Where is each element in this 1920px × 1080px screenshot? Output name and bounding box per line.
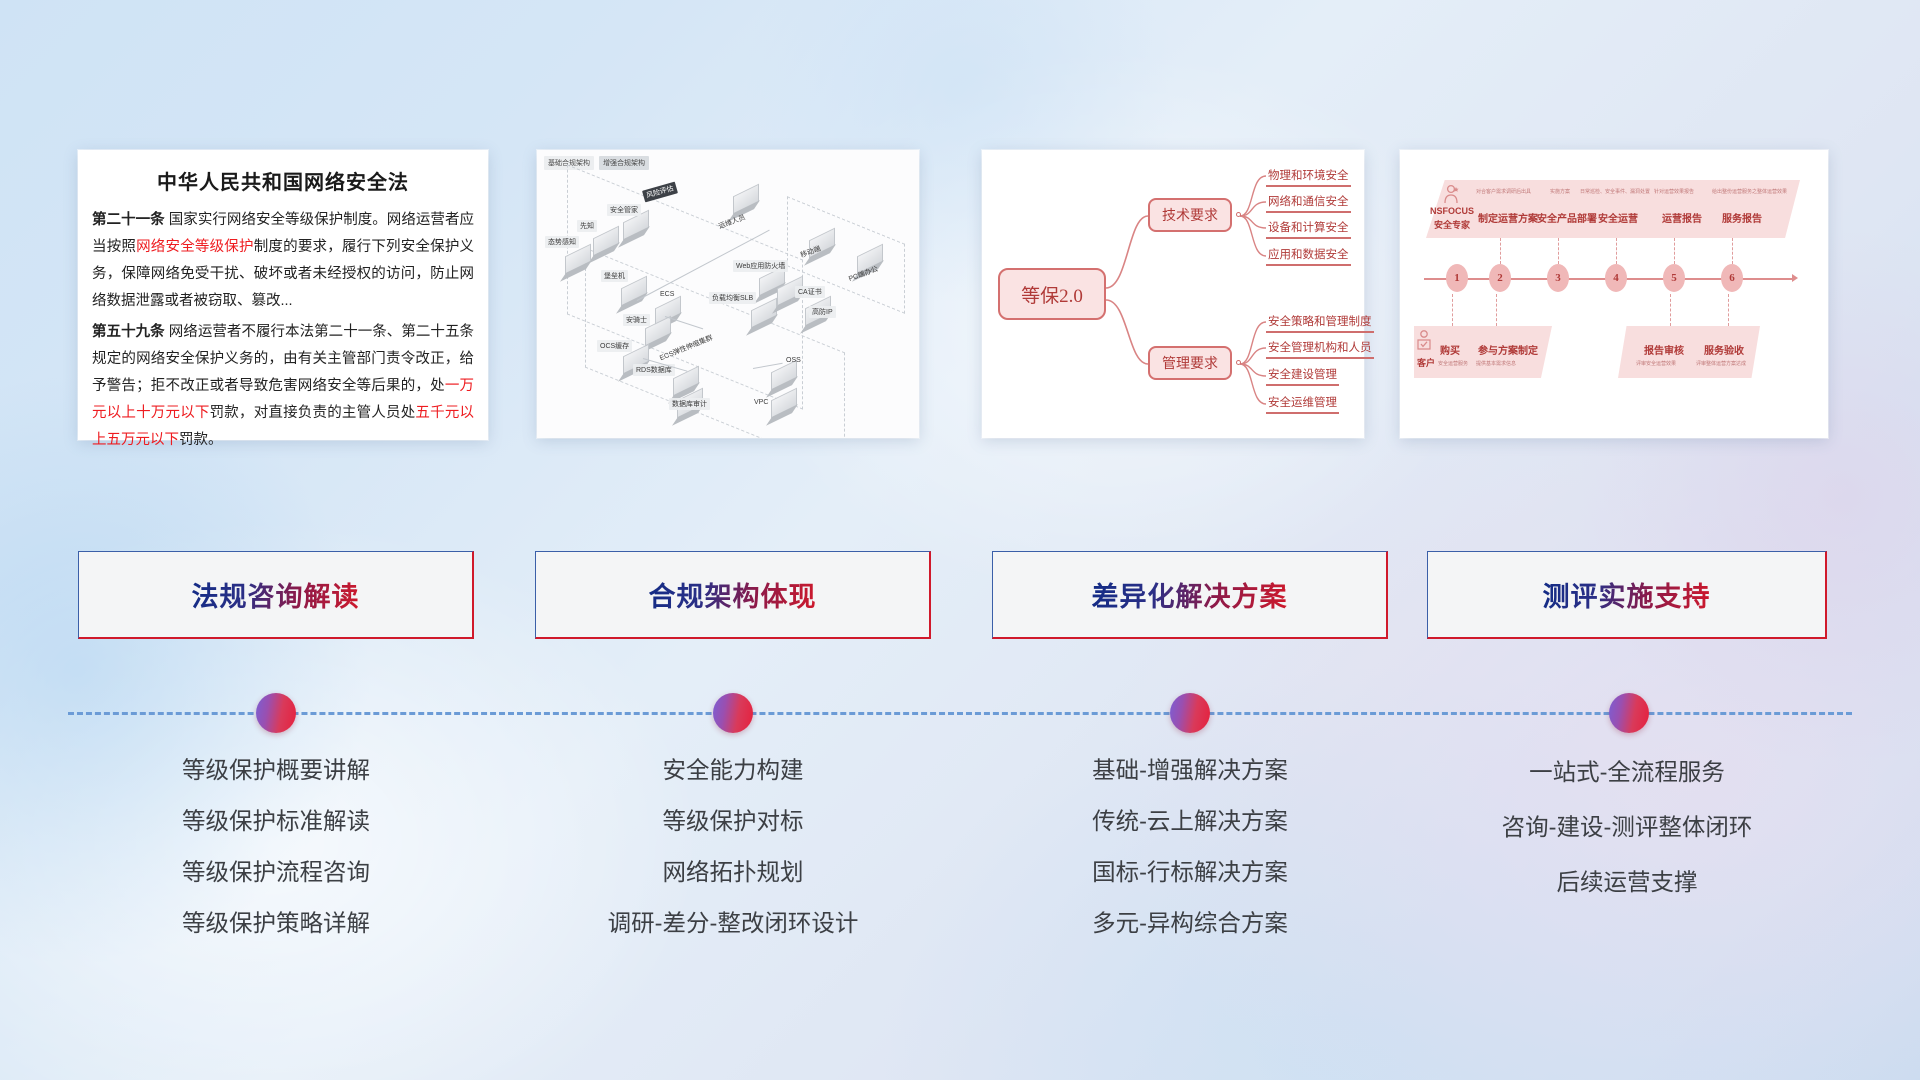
arch-label-waf: Web应用防火墙 xyxy=(733,260,788,272)
list-column-4: 一站式-全流程服务 咨询-建设-测评整体闭环 后续运营支撑 xyxy=(1427,745,1827,910)
nsfocus-top-sub-1: 对合客户需求调研后出具 xyxy=(1476,188,1531,195)
list-item: 国标-行标解决方案 xyxy=(992,847,1388,898)
arch-label-vpc: VPC xyxy=(751,398,771,407)
nsfocus-tick xyxy=(1674,238,1675,264)
article-59-post: 罚款。 xyxy=(179,432,223,448)
list-item: 等级保护概要讲解 xyxy=(78,745,474,796)
list-item: 等级保护流程咨询 xyxy=(78,847,474,898)
mindmap-leaf-physical-env: 物理和环境安全 xyxy=(1266,167,1351,187)
nsfocus-top-label-4: 运营报告 xyxy=(1662,210,1702,225)
service-list-columns: 等级保护概要讲解 等级保护标准解读 等级保护流程咨询 等级保护策略详解 安全能力… xyxy=(0,745,1920,1005)
arch-label-situational: 态势感知 xyxy=(545,236,579,248)
nsfocus-tick xyxy=(1558,238,1559,264)
banner-row: 法规咨询解读 合规架构体现 差异化解决方案 测评实施支持 xyxy=(0,551,1920,643)
nsfocus-top-sub-2: 实施方案 xyxy=(1550,188,1570,195)
timeline-dot-2[interactable] xyxy=(713,693,753,733)
list-item: 一站式-全流程服务 xyxy=(1427,745,1827,800)
timeline-dot-3[interactable] xyxy=(1170,693,1210,733)
article-59-mid: 罚款，对直接负责的主管人员处 xyxy=(210,405,416,421)
nsfocus-bottom-sub-1: 安全运营服务 xyxy=(1438,360,1468,367)
mindmap-branch-technical[interactable]: 技术要求 xyxy=(1148,198,1232,232)
arch-label-ca: CA证书 xyxy=(795,286,825,298)
nsfocus-bottom-sub-4: 评审整体运营方案达成 xyxy=(1696,360,1746,367)
nsfocus-top-label-3: 安全运营 xyxy=(1598,210,1638,225)
mindmap-leaf-construction-mgmt: 安全建设管理 xyxy=(1266,366,1339,386)
arch-label-xianzhi: 先知 xyxy=(577,220,597,232)
nsfocus-step-1[interactable]: 1 xyxy=(1446,264,1468,292)
nsfocus-step-6[interactable]: 6 xyxy=(1721,264,1743,292)
list-item: 等级保护对标 xyxy=(535,796,931,847)
list-column-3: 基础-增强解决方案 传统-云上解决方案 国标-行标解决方案 多元-异构综合方案 xyxy=(992,745,1388,949)
law-article-59: 第五十九条 网络运营者不履行本法第二十一条、第二十五条规定的网络安全保护义务的，… xyxy=(92,319,474,454)
timeline xyxy=(68,693,1852,733)
article-21-highlight: 网络安全等级保护 xyxy=(136,239,254,255)
architecture-tabs: 基础合规架构 增强合规架构 xyxy=(544,156,649,170)
nsfocus-tick xyxy=(1728,294,1729,326)
arch-label-risk: 风险评估 xyxy=(642,182,678,203)
banner-label: 测评实施支持 xyxy=(1543,575,1711,614)
banner-differentiated-solution[interactable]: 差异化解决方案 xyxy=(992,551,1388,639)
card-nsfocus-service-timeline[interactable]: NSFOCUS 安全专家 对合客户需求调研后出具 制定运营方案 实施方案 安全产… xyxy=(1400,150,1828,438)
nsfocus-tick xyxy=(1452,294,1453,326)
nsfocus-bottom-sub-3: 评审安全运营效果 xyxy=(1636,360,1676,367)
list-column-1: 等级保护概要讲解 等级保护标准解读 等级保护流程咨询 等级保护策略详解 xyxy=(78,745,474,949)
timeline-dot-1[interactable] xyxy=(256,693,296,733)
banner-label: 法规咨询解读 xyxy=(192,575,360,614)
list-item: 调研-差分-整改闭环设计 xyxy=(535,898,931,949)
mindmap-leaf-app-data: 应用和数据安全 xyxy=(1266,246,1351,266)
arch-label-slb: 负载均衡SLB xyxy=(709,292,756,304)
law-article-21: 第二十一条 国家实行网络安全等级保护制度。网络运营者应当按照网络安全等级保护制度… xyxy=(92,207,474,315)
mindmap: 等保2.0 技术要求 管理要求 物理和环境安全 网络和通信安全 设备和计算安全 … xyxy=(982,150,1364,438)
mindmap-root-node[interactable]: 等保2.0 xyxy=(998,268,1106,320)
nsfocus-bottom-sub-2: 提供基本需求信息 xyxy=(1476,360,1516,367)
arch-label-ecs: ECS xyxy=(657,290,677,299)
list-item: 后续运营支撑 xyxy=(1427,855,1827,910)
nsfocus-bottom-label-3: 报告审核 xyxy=(1644,342,1684,357)
card-cybersecurity-law[interactable]: 中华人民共和国网络安全法 第二十一条 国家实行网络安全等级保护制度。网络运营者应… xyxy=(78,150,488,440)
list-item: 咨询-建设-测评整体闭环 xyxy=(1427,800,1827,855)
list-item: 多元-异构综合方案 xyxy=(992,898,1388,949)
timeline-dashed-line xyxy=(68,712,1852,715)
list-item: 基础-增强解决方案 xyxy=(992,745,1388,796)
card-mindmap-dengbao[interactable]: 等保2.0 技术要求 管理要求 物理和环境安全 网络和通信安全 设备和计算安全 … xyxy=(982,150,1364,438)
cards-row: 中华人民共和国网络安全法 第二十一条 国家实行网络安全等级保护制度。网络运营者应… xyxy=(0,150,1920,445)
nsfocus-brand: NSFOCUS xyxy=(1430,206,1474,216)
arch-label-ocs: OCS缓存 xyxy=(597,340,632,352)
list-item: 等级保护标准解读 xyxy=(78,796,474,847)
arch-label-security-butler: 安全管家 xyxy=(607,204,641,216)
nsfocus-top-label-5: 服务报告 xyxy=(1722,210,1762,225)
law-title: 中华人民共和国网络安全法 xyxy=(92,166,474,195)
nsfocus-tick xyxy=(1616,238,1617,264)
timeline-dot-4[interactable] xyxy=(1609,693,1649,733)
card-compliance-architecture[interactable]: 基础合规架构 增强合规架构 风险评估 安全管家 先知 态势感知 堡垒机 运维人员… xyxy=(537,150,919,438)
list-item: 等级保护策略详解 xyxy=(78,898,474,949)
mindmap-leaf-org-personnel: 安全管理机构和人员 xyxy=(1266,339,1374,359)
nsfocus-brand-sub: 安全专家 xyxy=(1434,218,1470,231)
banner-label: 合规架构体现 xyxy=(649,575,817,614)
nsfocus-tick xyxy=(1500,238,1501,264)
arch-label-bastion: 堡垒机 xyxy=(601,270,628,282)
nsfocus-top-label-2: 安全产品部署 xyxy=(1537,210,1597,225)
arch-label-anti-ddos: 高防IP xyxy=(809,306,836,318)
mindmap-leaf-device-compute: 设备和计算安全 xyxy=(1266,219,1351,239)
banner-label: 差异化解决方案 xyxy=(1092,575,1288,614)
banner-regulation-consulting[interactable]: 法规咨询解读 xyxy=(78,551,474,639)
nsfocus-step-3[interactable]: 3 xyxy=(1547,264,1569,292)
nsfocus-top-sub-5: 给出整份运营服务之整体运营效果 xyxy=(1712,188,1787,195)
arch-label-oss: OSS xyxy=(783,356,804,365)
arch-label-anqishi: 安骑士 xyxy=(623,314,650,326)
customer-person-icon xyxy=(1416,330,1432,352)
nsfocus-top-label-1: 制定运营方案 xyxy=(1478,210,1538,225)
nsfocus-customer-label: 客户 xyxy=(1417,356,1435,369)
nsfocus-tick xyxy=(1670,294,1671,326)
nsfocus-tick xyxy=(1732,238,1733,264)
nsfocus-step-2[interactable]: 2 xyxy=(1489,264,1511,292)
mindmap-leaf-network-comm: 网络和通信安全 xyxy=(1266,193,1351,213)
list-item: 网络拓扑规划 xyxy=(535,847,931,898)
nsfocus-bottom-label-2: 参与方案制定 xyxy=(1478,342,1538,357)
arch-tab-enhanced[interactable]: 增强合规架构 xyxy=(599,156,649,170)
nsfocus-tick xyxy=(1496,294,1497,326)
mindmap-leaf-ops-mgmt: 安全运维管理 xyxy=(1266,394,1339,414)
list-column-2: 安全能力构建 等级保护对标 网络拓扑规划 调研-差分-整改闭环设计 xyxy=(535,745,931,949)
article-21-label: 第二十一条 xyxy=(92,212,165,228)
nsfocus-bottom-label-4: 服务验收 xyxy=(1704,342,1744,357)
mindmap-branch-management[interactable]: 管理要求 xyxy=(1148,346,1232,380)
arch-label-db-audit: 数据库审计 xyxy=(669,398,710,410)
expert-person-icon xyxy=(1442,184,1460,204)
list-item: 安全能力构建 xyxy=(535,745,931,796)
nsfocus-bottom-label-1: 购买 xyxy=(1440,342,1460,357)
architecture-diagram: 基础合规架构 增强合规架构 风险评估 安全管家 先知 态势感知 堡垒机 运维人员… xyxy=(537,150,919,438)
mindmap-leaf-policy-system: 安全策略和管理制度 xyxy=(1266,313,1374,333)
mindmap-collapse-icon[interactable] xyxy=(1236,360,1241,365)
banner-compliance-architecture[interactable]: 合规架构体现 xyxy=(535,551,931,639)
nsfocus-step-4[interactable]: 4 xyxy=(1605,264,1627,292)
nsfocus-axis-arrow-icon xyxy=(1792,274,1798,282)
nsfocus-top-sub-3: 日常巡检、安全事件、漏洞处置 xyxy=(1580,188,1650,195)
banner-assessment-support[interactable]: 测评实施支持 xyxy=(1427,551,1827,639)
nsfocus-step-5[interactable]: 5 xyxy=(1663,264,1685,292)
mindmap-collapse-icon[interactable] xyxy=(1236,212,1241,217)
list-item: 传统-云上解决方案 xyxy=(992,796,1388,847)
nsfocus-top-sub-4: 针对运营效果报告 xyxy=(1654,188,1694,195)
article-59-label: 第五十九条 xyxy=(92,324,165,340)
nsfocus-timeline: NSFOCUS 安全专家 对合客户需求调研后出具 制定运营方案 实施方案 安全产… xyxy=(1400,150,1828,438)
